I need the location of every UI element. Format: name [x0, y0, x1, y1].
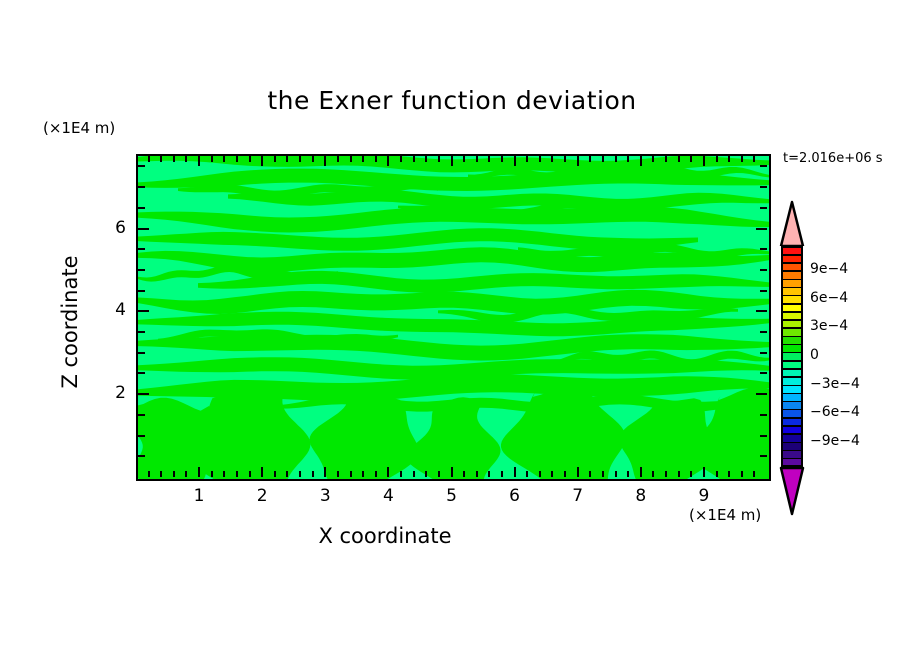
x-axis-tick-label: 2 — [242, 486, 282, 506]
colorbar-band-divider — [781, 344, 803, 346]
x-axis-minor-tick — [185, 156, 187, 162]
x-axis-minor-tick — [526, 156, 528, 162]
x-axis-minor-tick — [463, 471, 465, 477]
x-axis-minor-tick — [589, 471, 591, 477]
colorbar-tick-label: 0 — [810, 347, 819, 363]
x-axis-tick-label: 7 — [558, 486, 598, 506]
x-axis-minor-tick — [690, 471, 692, 477]
x-axis-tick-label: 5 — [432, 486, 472, 506]
colorbar-max-arrow-icon — [779, 200, 805, 246]
x-axis-minor-tick — [350, 471, 352, 477]
colorbar-band-divider — [781, 327, 803, 329]
x-axis-minor-tick — [728, 471, 730, 477]
x-axis-minor-tick — [741, 156, 743, 162]
x-axis-minor-tick — [551, 156, 553, 162]
x-axis-tick — [387, 156, 389, 166]
x-axis-minor-tick — [615, 471, 617, 477]
colorbar-band-divider — [781, 254, 803, 256]
y-axis-minor-tick — [138, 455, 145, 457]
x-axis-tick-label: 1 — [179, 486, 219, 506]
x-axis-minor-tick — [728, 156, 730, 162]
colorbar-band-divider — [781, 287, 803, 289]
x-axis-minor-tick — [223, 471, 225, 477]
x-axis-minor-tick — [375, 471, 377, 477]
y-axis-minor-tick — [760, 269, 767, 271]
colorbar-min-arrow-icon — [779, 466, 805, 516]
x-axis-minor-tick — [476, 471, 478, 477]
colorbar-band-divider — [781, 368, 803, 370]
y-axis-minor-tick — [760, 455, 767, 457]
colorbar-tick-label: −3e−4 — [810, 376, 860, 392]
y-axis-minor-tick — [138, 331, 145, 333]
y-axis-title: Z coordinate — [58, 192, 82, 452]
x-axis-tick-label: 8 — [621, 486, 661, 506]
x-axis-minor-tick — [362, 156, 364, 162]
y-axis-tick-label: 4 — [86, 300, 126, 320]
x-axis-minor-tick — [148, 156, 150, 162]
x-axis-minor-tick — [375, 156, 377, 162]
x-axis-minor-tick — [400, 156, 402, 162]
x-axis-minor-tick — [413, 156, 415, 162]
y-axis-tick — [138, 393, 149, 395]
x-axis-minor-tick — [223, 156, 225, 162]
x-axis-minor-tick — [438, 471, 440, 477]
colorbar-band-divider — [781, 450, 803, 452]
x-axis-minor-tick — [665, 156, 667, 162]
colorbar-band-divider — [781, 279, 803, 281]
x-axis-tick — [451, 467, 453, 477]
y-axis-minor-tick — [760, 248, 767, 250]
contour-plot-area — [136, 154, 771, 481]
x-axis-tick — [261, 156, 263, 166]
y-axis-tick — [138, 228, 149, 230]
x-axis-minor-tick — [413, 471, 415, 477]
x-axis-minor-tick — [160, 471, 162, 477]
x-axis-tick-label: 6 — [495, 486, 535, 506]
x-axis-minor-tick — [526, 471, 528, 477]
x-axis-minor-tick — [350, 156, 352, 162]
y-axis-minor-tick — [760, 352, 767, 354]
x-axis-minor-tick — [425, 471, 427, 477]
x-axis-minor-tick — [211, 156, 213, 162]
x-axis-minor-tick — [488, 471, 490, 477]
colorbar-band-divider — [781, 393, 803, 395]
y-axis-unit-label: (×1E4 m) — [43, 119, 115, 137]
y-axis-minor-tick — [138, 414, 145, 416]
y-axis-minor-tick — [760, 435, 767, 437]
x-axis-tick — [324, 156, 326, 166]
x-axis-minor-tick — [589, 156, 591, 162]
colorbar-band-divider — [781, 409, 803, 411]
x-axis-minor-tick — [539, 471, 541, 477]
x-axis-minor-tick — [236, 471, 238, 477]
x-axis-minor-tick — [274, 156, 276, 162]
colorbar-band-divider — [781, 385, 803, 387]
x-axis-tick — [324, 467, 326, 477]
x-axis-title: X coordinate — [0, 524, 770, 548]
x-axis-minor-tick — [400, 471, 402, 477]
x-axis-minor-tick — [438, 156, 440, 162]
y-axis-minor-tick — [760, 331, 767, 333]
x-axis-minor-tick — [312, 156, 314, 162]
x-axis-tick-label: 3 — [305, 486, 345, 506]
x-axis-minor-tick — [425, 156, 427, 162]
x-axis-minor-tick — [501, 471, 503, 477]
y-axis-minor-tick — [760, 186, 767, 188]
colorbar-band-divider — [781, 417, 803, 419]
colorbar-band-divider — [781, 262, 803, 264]
colorbar-band-divider — [781, 352, 803, 354]
colorbar-band-divider — [781, 401, 803, 403]
colorbar-tick-label: 9e−4 — [810, 261, 848, 277]
x-axis-minor-tick — [690, 156, 692, 162]
y-axis-tick-label: 6 — [86, 218, 126, 238]
x-axis-minor-tick — [148, 471, 150, 477]
x-axis-minor-tick — [753, 471, 755, 477]
y-axis-minor-tick — [138, 269, 145, 271]
x-axis-tick — [577, 156, 579, 166]
y-axis-minor-tick — [760, 165, 767, 167]
x-axis-minor-tick — [602, 156, 604, 162]
x-axis-minor-tick — [299, 471, 301, 477]
y-axis-tick — [756, 393, 767, 395]
x-axis-minor-tick — [741, 471, 743, 477]
x-axis-tick-label: 9 — [684, 486, 724, 506]
y-axis-minor-tick — [138, 290, 145, 292]
x-axis-tick — [514, 156, 516, 166]
y-axis-tick — [756, 228, 767, 230]
x-axis-minor-tick — [249, 156, 251, 162]
x-axis-unit-label: (×1E4 m) — [689, 506, 761, 524]
x-axis-minor-tick — [488, 156, 490, 162]
x-axis-tick — [514, 467, 516, 477]
x-axis-minor-tick — [274, 471, 276, 477]
y-axis-minor-tick — [138, 372, 145, 374]
colorbar-band-divider — [781, 425, 803, 427]
y-axis-tick-label: 2 — [86, 383, 126, 403]
x-axis-minor-tick — [539, 156, 541, 162]
colorbar-band-divider — [781, 319, 803, 321]
x-axis-minor-tick — [564, 156, 566, 162]
x-axis-tick — [387, 467, 389, 477]
x-axis-tick — [640, 467, 642, 477]
x-axis-minor-tick — [678, 471, 680, 477]
x-axis-tick — [198, 467, 200, 477]
x-axis-minor-tick — [337, 471, 339, 477]
x-axis-tick — [198, 156, 200, 166]
x-axis-minor-tick — [249, 471, 251, 477]
colorbar-tick-label: 3e−4 — [810, 318, 848, 334]
colorbar-band-divider — [781, 295, 803, 297]
x-axis-minor-tick — [678, 156, 680, 162]
x-axis-minor-tick — [753, 156, 755, 162]
x-axis-tick — [577, 467, 579, 477]
x-axis-minor-tick — [627, 156, 629, 162]
x-axis-minor-tick — [173, 156, 175, 162]
y-axis-minor-tick — [138, 207, 145, 209]
colorbar-band-divider — [781, 311, 803, 313]
contour-field — [138, 156, 769, 479]
y-axis-minor-tick — [138, 186, 145, 188]
colorbar-band-divider — [781, 270, 803, 272]
x-axis-minor-tick — [337, 156, 339, 162]
x-axis-minor-tick — [564, 471, 566, 477]
x-axis-minor-tick — [716, 156, 718, 162]
x-axis-minor-tick — [665, 471, 667, 477]
colorbar-tick-label: −9e−4 — [810, 433, 860, 449]
x-axis-minor-tick — [652, 471, 654, 477]
colorbar-band-divider — [781, 458, 803, 460]
colorbar-band-divider — [781, 303, 803, 305]
x-axis-minor-tick — [476, 156, 478, 162]
x-axis-minor-tick — [173, 471, 175, 477]
y-axis-tick — [756, 310, 767, 312]
colorbar-band-divider — [781, 442, 803, 444]
y-axis-minor-tick — [760, 372, 767, 374]
y-axis-minor-tick — [760, 290, 767, 292]
x-axis-minor-tick — [551, 471, 553, 477]
x-axis-tick-label: 4 — [368, 486, 408, 506]
x-axis-minor-tick — [286, 156, 288, 162]
y-axis-minor-tick — [138, 435, 145, 437]
x-axis-minor-tick — [501, 156, 503, 162]
y-axis-tick — [138, 310, 149, 312]
x-axis-minor-tick — [185, 471, 187, 477]
x-axis-minor-tick — [286, 471, 288, 477]
colorbar — [781, 246, 803, 466]
x-axis-tick — [703, 156, 705, 166]
x-axis-tick — [261, 467, 263, 477]
x-axis-minor-tick — [236, 156, 238, 162]
x-axis-minor-tick — [312, 471, 314, 477]
x-axis-minor-tick — [627, 471, 629, 477]
colorbar-tick-label: 6e−4 — [810, 290, 848, 306]
x-axis-minor-tick — [211, 471, 213, 477]
x-axis-minor-tick — [615, 156, 617, 162]
colorbar-band-divider — [781, 376, 803, 378]
x-axis-minor-tick — [716, 471, 718, 477]
colorbar-band-divider — [781, 360, 803, 362]
y-axis-minor-tick — [760, 207, 767, 209]
x-axis-minor-tick — [652, 156, 654, 162]
colorbar-band-divider — [781, 336, 803, 338]
y-axis-minor-tick — [138, 165, 145, 167]
x-axis-minor-tick — [299, 156, 301, 162]
x-axis-minor-tick — [463, 156, 465, 162]
x-axis-minor-tick — [160, 156, 162, 162]
colorbar-band-divider — [781, 433, 803, 435]
y-axis-minor-tick — [138, 248, 145, 250]
x-axis-tick — [640, 156, 642, 166]
figure-title: the Exner function deviation — [0, 86, 904, 115]
colorbar-tick-label: −6e−4 — [810, 404, 860, 420]
x-axis-minor-tick — [602, 471, 604, 477]
timestamp-annotation: t=2.016e+06 s — [783, 151, 883, 166]
x-axis-tick — [703, 467, 705, 477]
x-axis-minor-tick — [362, 471, 364, 477]
figure-canvas: the Exner function deviation (×1E4 m) (×… — [0, 0, 904, 654]
x-axis-tick — [451, 156, 453, 166]
y-axis-minor-tick — [138, 352, 145, 354]
y-axis-minor-tick — [760, 414, 767, 416]
